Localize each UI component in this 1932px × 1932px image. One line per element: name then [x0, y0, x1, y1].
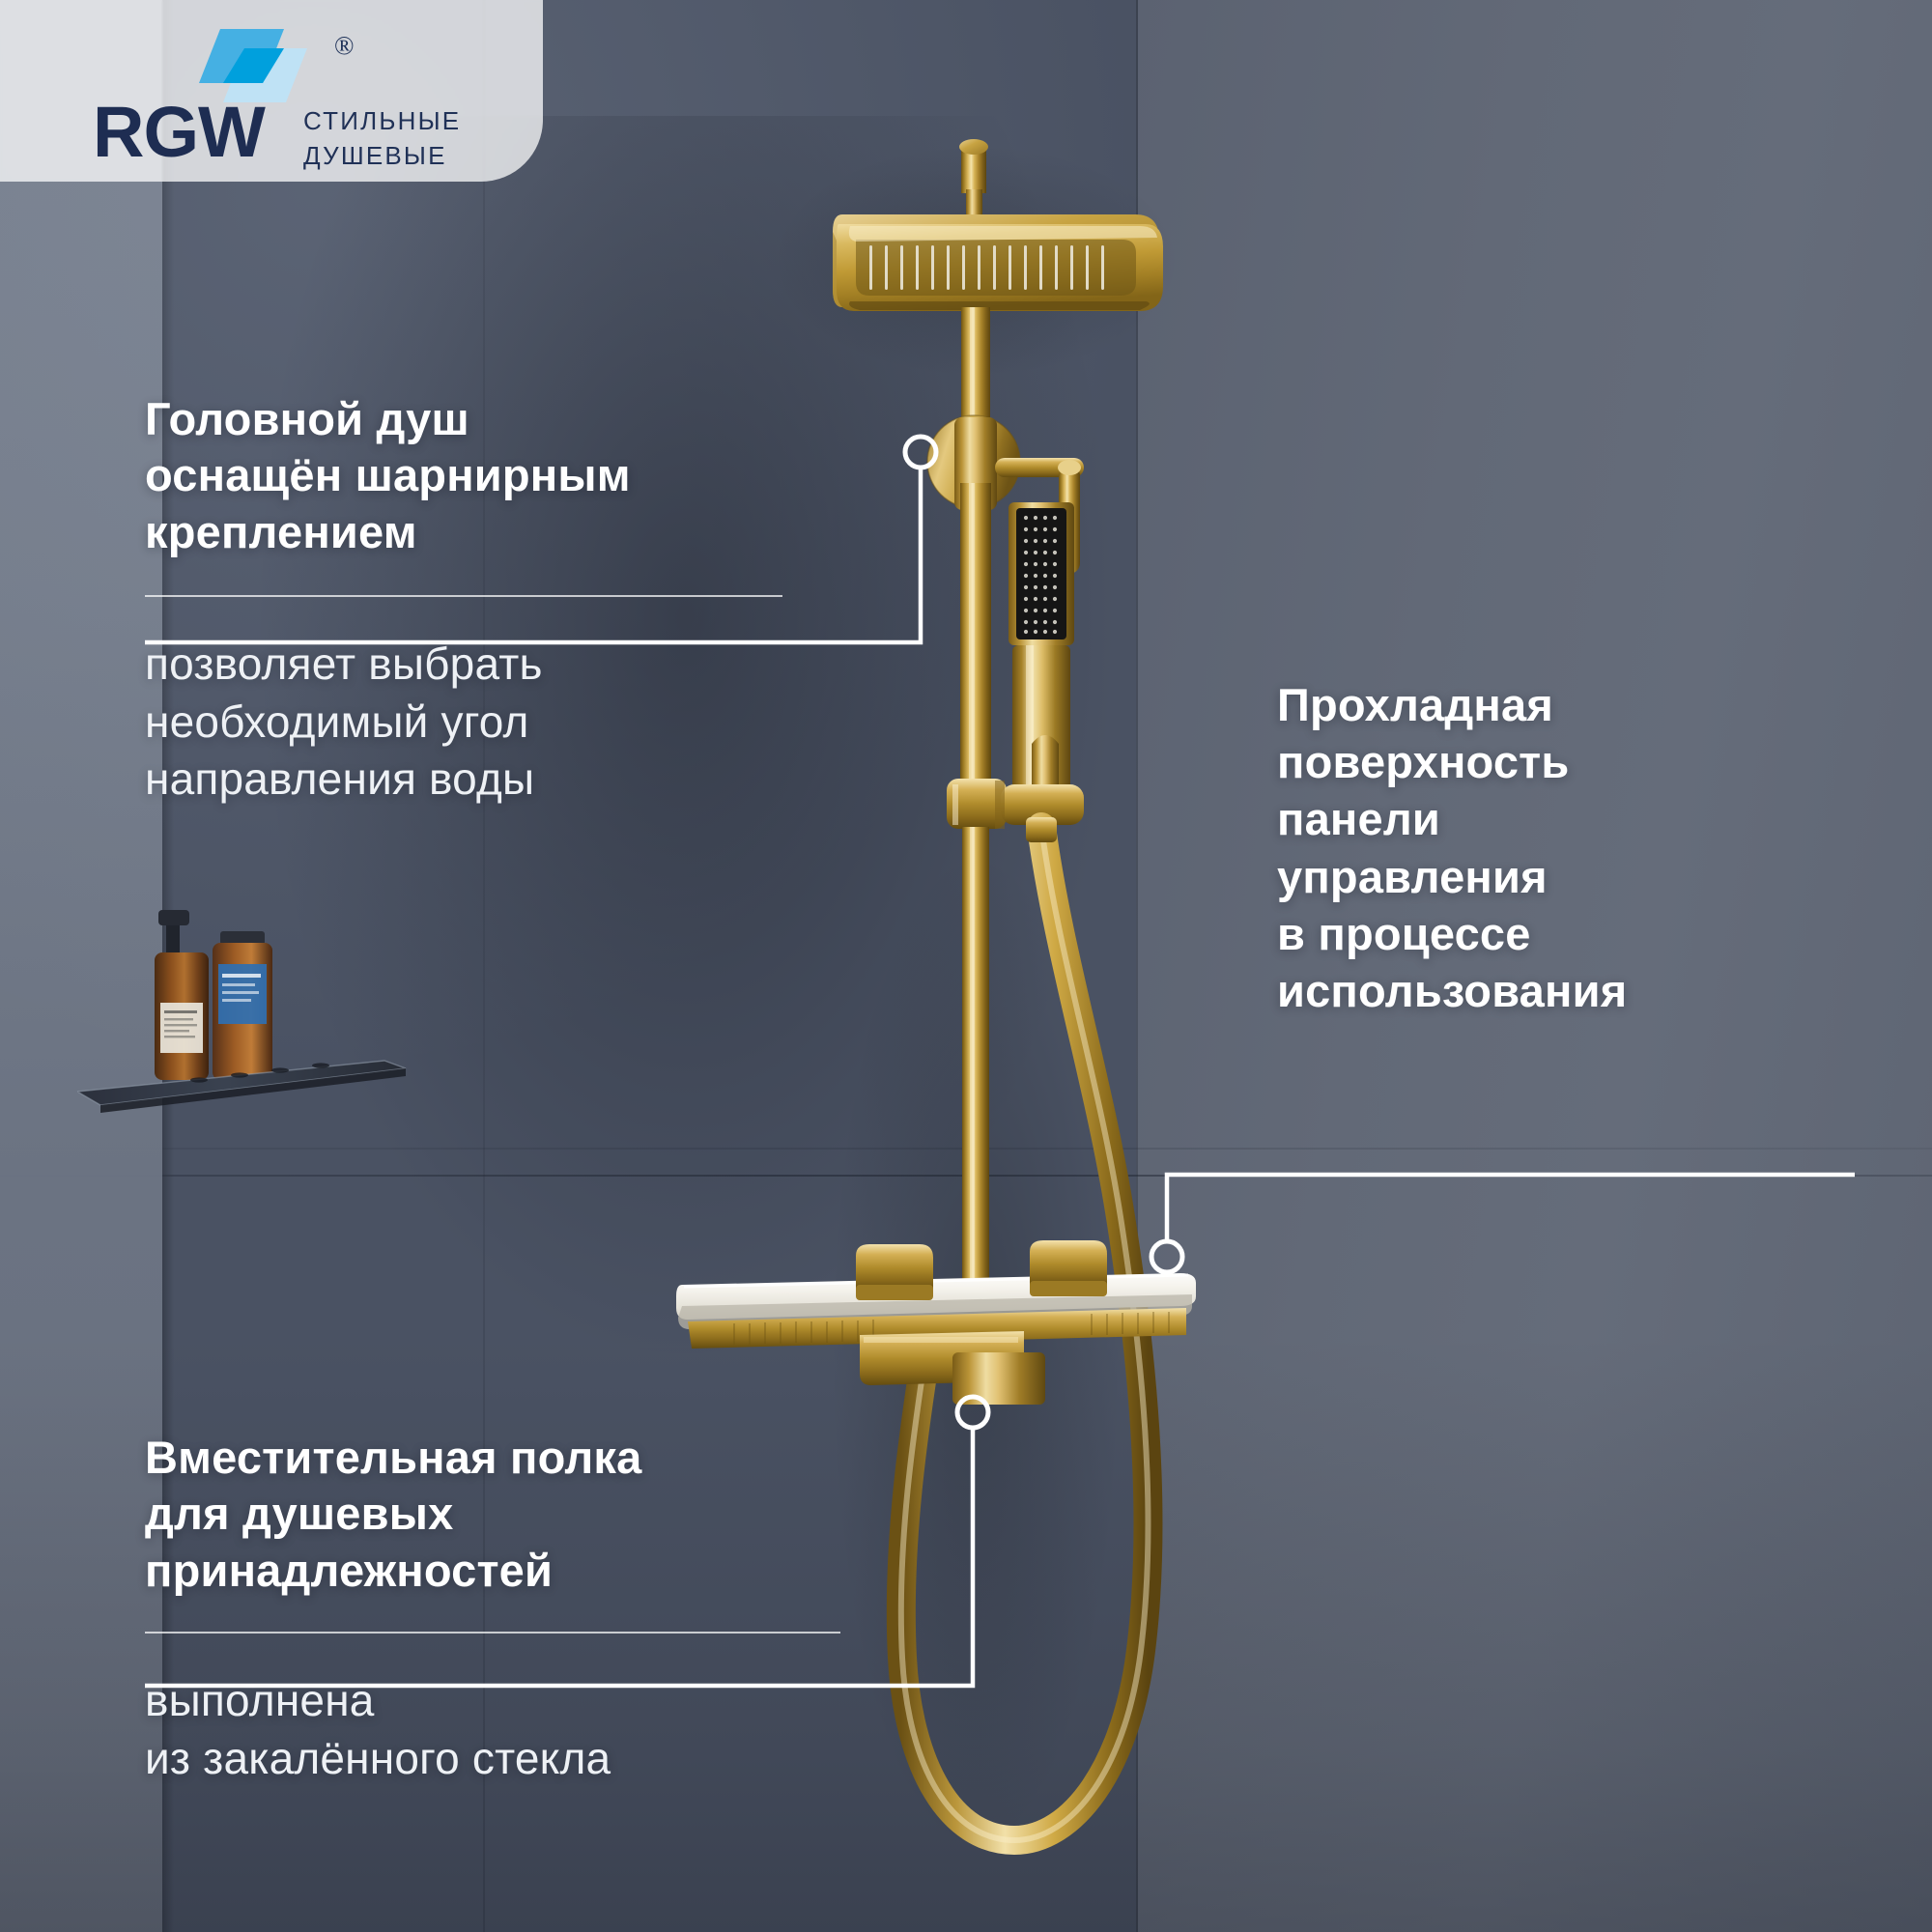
riser-pipe-lower — [962, 827, 989, 1281]
title-line-2: оснащён шарнирным — [145, 447, 879, 503]
shelf-sub-line-2: из закалённого стекла — [145, 1730, 937, 1788]
product-infographic: Головной душ оснащён шарнирным крепление… — [0, 0, 1932, 1932]
sub-line-3: направления воды — [145, 751, 879, 809]
panel-line-4: управления — [1277, 848, 1895, 905]
shelf-title-line-3: принадлежностей — [145, 1543, 937, 1599]
shelf-sub-line-1: выполнена — [145, 1672, 937, 1730]
panel-line-6: использования — [1277, 962, 1895, 1019]
callout-shelf-subtitle: выполнена из закалённого стекла — [145, 1672, 937, 1788]
callout-shelf-divider — [145, 1632, 840, 1634]
title-line-3: креплением — [145, 504, 879, 560]
callout-head-shower-subtitle: позволяет выбрать необходимый угол напра… — [145, 636, 879, 809]
callout-control-panel-title: Прохладная поверхность панели управления… — [1277, 676, 1895, 1019]
brand-logo-inner: ® RGW СТИЛЬНЫЕ ДУШЕВЫЕ — [93, 21, 508, 156]
panel-line-1: Прохладная — [1277, 676, 1895, 733]
brand-wordmark: RGW — [93, 97, 265, 168]
panel-line-3: панели — [1277, 790, 1895, 847]
tagline-line-1: СТИЛЬНЫЕ — [303, 104, 461, 139]
hand-shower — [1009, 502, 1074, 792]
callout-control-panel: Прохладная поверхность панели управления… — [1277, 676, 1895, 1019]
riser-pipe-main — [960, 483, 991, 792]
callout-shelf: Вместительная полка для душевых принадле… — [145, 1430, 937, 1787]
callout-shelf-title: Вместительная полка для душевых принадле… — [145, 1430, 937, 1599]
callout-head-shower-divider — [145, 595, 782, 597]
shelf-title-line-2: для душевых — [145, 1486, 937, 1542]
panel-line-5: в процессе — [1277, 905, 1895, 962]
brand-logo-badge: ® RGW СТИЛЬНЫЕ ДУШЕВЫЕ — [0, 0, 543, 182]
tagline-line-2: ДУШЕВЫЕ — [303, 139, 461, 174]
slide-bracket — [947, 779, 1084, 829]
callout-head-shower: Головной душ оснащён шарнирным крепление… — [145, 391, 879, 809]
brand-tagline: СТИЛЬНЫЕ ДУШЕВЫЕ — [303, 104, 461, 174]
rain-shower-head — [833, 214, 1163, 311]
shelf-title-line-1: Вместительная полка — [145, 1430, 937, 1486]
callout-head-shower-title: Головной душ оснащён шарнирным крепление… — [145, 391, 879, 560]
title-line-1: Головной душ — [145, 391, 879, 447]
sub-line-1: позволяет выбрать — [145, 636, 879, 694]
sub-line-2: необходимый угол — [145, 694, 879, 752]
registered-trademark-icon: ® — [334, 31, 355, 61]
panel-line-2: поверхность — [1277, 733, 1895, 790]
